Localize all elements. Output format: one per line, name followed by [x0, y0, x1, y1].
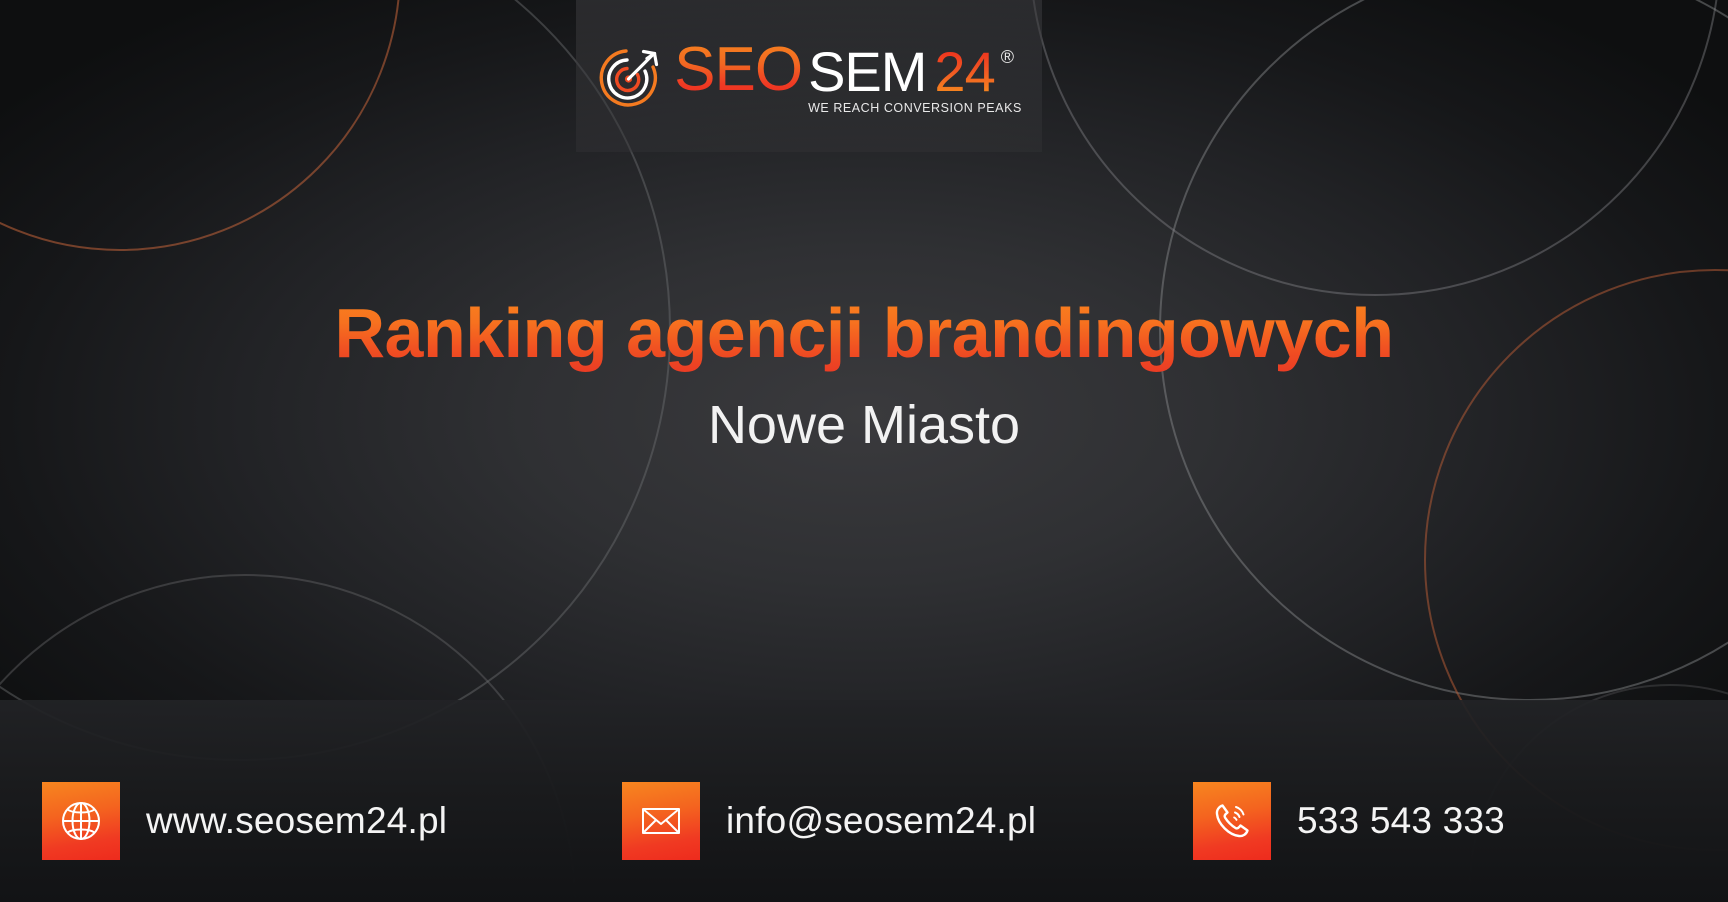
- target-arrow-icon: [596, 45, 662, 111]
- logo-24-text: 24: [934, 45, 994, 98]
- logo-banner: SEO SEM 24 ® WE REACH CONVERSION PEAKS: [576, 0, 1042, 152]
- contact-website[interactable]: www.seosem24.pl: [42, 782, 447, 860]
- logo-seo-text: SEO: [674, 41, 802, 100]
- title-block: Ranking agencji brandingowych Nowe Miast…: [0, 296, 1728, 456]
- logo-sem-text: SEM: [808, 45, 926, 98]
- email-label: info@seosem24.pl: [726, 800, 1036, 842]
- logo-tagline: WE REACH CONVERSION PEAKS: [808, 101, 1022, 115]
- contact-phone[interactable]: 533 543 333: [1193, 782, 1505, 860]
- seosem24-logo[interactable]: SEO SEM 24 ® WE REACH CONVERSION PEAKS: [596, 41, 1022, 114]
- page-subtitle: Nowe Miasto: [0, 394, 1728, 456]
- envelope-icon: [622, 782, 700, 860]
- website-label: www.seosem24.pl: [146, 800, 447, 842]
- page-title: Ranking agencji brandingowych: [0, 296, 1728, 372]
- slide-canvas: SEO SEM 24 ® WE REACH CONVERSION PEAKS R…: [0, 0, 1728, 902]
- registered-trademark-icon: ®: [1001, 49, 1014, 66]
- phone-label: 533 543 333: [1297, 800, 1505, 842]
- globe-icon: [42, 782, 120, 860]
- phone-icon: [1193, 782, 1271, 860]
- contact-email[interactable]: info@seosem24.pl: [622, 782, 1036, 860]
